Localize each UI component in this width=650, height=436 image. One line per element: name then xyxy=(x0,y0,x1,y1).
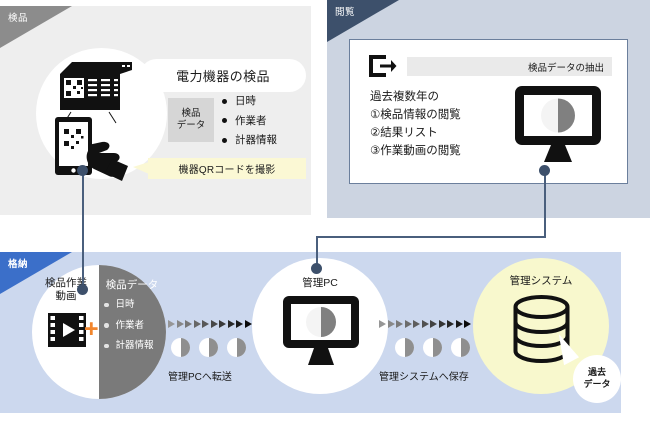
data-chunk-icon xyxy=(395,338,414,357)
management-system-label: 管理システム xyxy=(473,273,609,288)
half-circle-strip xyxy=(171,338,255,357)
chip-line-1: 検品 xyxy=(181,108,200,120)
list-item: ③作業動画の閲覧 xyxy=(370,142,461,160)
arrow-icon xyxy=(245,320,252,328)
desktop-monitor-icon xyxy=(513,84,603,166)
arrow-icon xyxy=(202,320,209,328)
bullet-dot-icon xyxy=(104,344,109,349)
arrow-icon xyxy=(422,320,429,328)
bullet-dot-icon xyxy=(222,99,227,104)
inspection-data-chip: 検品 データ xyxy=(168,98,214,142)
view-card: 検品データの抽出 過去複数年の ①検品情報の閲覧 ②結果リスト ③作業動画の閲覧 xyxy=(349,39,628,184)
arrow-icon xyxy=(379,320,386,328)
bullet-dot-icon xyxy=(222,118,227,123)
flow-label: 管理PCへ転送 xyxy=(168,368,232,383)
panel-tag-label: 検品 xyxy=(8,14,28,24)
list-item: ①検品情報の閲覧 xyxy=(370,106,461,124)
qr-callout: 機器QRコードを撮影 xyxy=(148,158,306,179)
arrow-icon xyxy=(211,320,218,328)
past-data-bubble: 過去 データ xyxy=(573,355,621,403)
bubble-line-2: データ xyxy=(583,379,610,391)
wire-view-down xyxy=(544,170,546,237)
list-item: 計器情報 xyxy=(104,341,154,351)
management-pc-label: 管理PC xyxy=(252,275,388,290)
list-item: 作業者 xyxy=(222,116,277,127)
panel-tag-inspection: 検品 xyxy=(0,6,72,48)
bullet-dot-icon xyxy=(222,138,227,143)
wire-inspection-to-storage xyxy=(82,170,84,292)
arrow-icon xyxy=(413,320,420,328)
page-title: 電力機器の検品 xyxy=(176,66,270,85)
bullet-dot-icon xyxy=(104,323,109,328)
data-chunk-icon xyxy=(227,338,246,357)
arrow-icon xyxy=(464,320,471,328)
arrow-icon xyxy=(388,320,395,328)
list-item: 計器情報 xyxy=(222,135,277,146)
list-item: 過去複数年の xyxy=(370,88,461,106)
bubble-line-1: 過去 xyxy=(588,367,606,379)
wire-node xyxy=(77,165,88,176)
list-item-label: 作業者 xyxy=(235,116,267,127)
list-item-label: 日時 xyxy=(116,300,135,310)
arrow-icon xyxy=(430,320,437,328)
plus-icon: + xyxy=(84,317,99,342)
panel-tag-view: 閲覧 xyxy=(327,0,399,42)
inspection-bullet-list: 日時 作業者 計器情報 xyxy=(222,96,277,155)
export-arrow-into-bracket-icon xyxy=(367,52,397,80)
list-item-label: 作業者 xyxy=(116,321,145,331)
list-item-label: 計器情報 xyxy=(235,135,277,146)
arrow-icon xyxy=(405,320,412,328)
arrow-icon xyxy=(228,320,235,328)
server-qr-icon xyxy=(58,60,134,112)
diagram-canvas: 電力機器の検品 検品 データ 日時 作業者 計器情報 機器QRコードを撮影 xyxy=(0,0,650,436)
storage-bullet-list: 日時 作業者 計器情報 xyxy=(104,300,154,362)
desktop-monitor-icon xyxy=(282,295,360,367)
film-play-icon xyxy=(48,311,86,349)
wire-node xyxy=(539,165,550,176)
qr-callout-label: 機器QRコードを撮影 xyxy=(179,161,276,176)
list-item: 作業者 xyxy=(104,321,154,331)
bullet-dot-icon xyxy=(104,303,109,308)
data-chunk-icon xyxy=(199,338,218,357)
arrow-icon xyxy=(236,320,243,328)
arrow-icon xyxy=(194,320,201,328)
arrow-icon xyxy=(185,320,192,328)
extract-bar: 検品データの抽出 xyxy=(407,57,612,76)
arrow-icon xyxy=(447,320,454,328)
hand-phone-qr-scan-icon xyxy=(52,115,134,183)
data-chunk-icon xyxy=(171,338,190,357)
panel-tag-label: 格納 xyxy=(8,260,28,270)
arrow-icon xyxy=(456,320,463,328)
panel-view: 検品データの抽出 過去複数年の ①検品情報の閲覧 ②結果リスト ③作業動画の閲覧… xyxy=(327,0,650,218)
arrow-icon xyxy=(396,320,403,328)
data-chunk-icon xyxy=(451,338,470,357)
list-item: 日時 xyxy=(104,300,154,310)
data-chunk-icon xyxy=(423,338,442,357)
list-item-label: 計器情報 xyxy=(116,341,154,351)
wire-view-across xyxy=(316,236,546,238)
data-circle-label: 検品データ xyxy=(101,277,163,292)
callout-tail xyxy=(133,162,149,174)
arrow-icon xyxy=(168,320,175,328)
extract-bar-label: 検品データの抽出 xyxy=(528,60,604,74)
list-item: 日時 xyxy=(222,96,277,107)
chip-line-2: データ xyxy=(177,120,206,132)
flow-label: 管理システムへ保存 xyxy=(379,368,469,383)
panel-inspection: 電力機器の検品 検品 データ 日時 作業者 計器情報 機器QRコードを撮影 xyxy=(0,6,311,215)
arrow-icon xyxy=(439,320,446,328)
wire-node xyxy=(77,284,88,295)
panel-tag-label: 閲覧 xyxy=(335,8,355,18)
view-text-list: 過去複数年の ①検品情報の閲覧 ②結果リスト ③作業動画の閲覧 xyxy=(370,88,461,160)
arrow-strip xyxy=(379,320,473,328)
list-item: ②結果リスト xyxy=(370,124,461,142)
wire-node xyxy=(311,263,322,274)
half-circle-strip xyxy=(395,338,479,357)
arrow-strip xyxy=(168,320,253,328)
arrow-icon xyxy=(219,320,226,328)
list-item-label: 日時 xyxy=(235,96,256,107)
arrow-icon xyxy=(177,320,184,328)
inspection-title-pill: 電力機器の検品 xyxy=(140,59,306,92)
